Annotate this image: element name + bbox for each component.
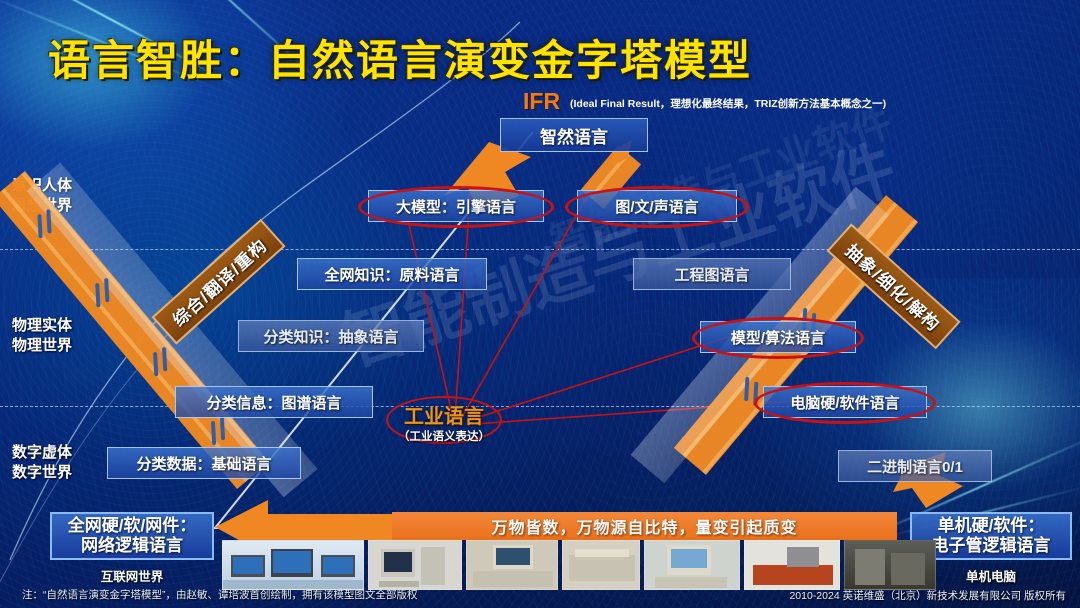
- node-apex-intelligent-language[interactable]: 智然语言: [500, 118, 648, 152]
- stratum-label-digital: 数字虚体 数字世界: [12, 443, 72, 484]
- stratum-line-1: 意识人体: [12, 176, 72, 196]
- node-industrial-language[interactable]: 工业语言 （工业语义表达）: [388, 400, 500, 444]
- thumbnail-vintage-pc: [466, 540, 558, 590]
- ifr-note: (Ideal Final Result，理想化最终结果，TRIZ创新方法基本概念…: [570, 96, 886, 111]
- bottom-right-line-1: 单机硬/软件：: [938, 516, 1045, 536]
- node-right-engineering-drawing[interactable]: 工程图语言: [633, 258, 791, 290]
- node-left-classified-knowledge[interactable]: 分类知识：抽象语言: [238, 320, 424, 352]
- node-bottom-left-network[interactable]: 全网硬/软/网件： 网络逻辑语言: [50, 512, 214, 560]
- stratum-line-1: 物理实体: [12, 316, 72, 336]
- slide-canvas: 语言智胜：自然语言演变金字塔模型 IFR (Ideal Final Result…: [0, 0, 1080, 608]
- node-left-classified-info[interactable]: 分类信息：图谱语言: [175, 386, 373, 418]
- node-right-model-algorithm[interactable]: 模型/算法语言: [700, 321, 856, 353]
- stratum-label-consciousness: 意识人体 思想世界: [12, 176, 72, 217]
- ifr-abbreviation: IFR: [523, 88, 560, 115]
- stratum-line-2: 思想世界: [12, 196, 72, 216]
- bottom-right-line-2: 电子管逻辑语言: [932, 536, 1051, 556]
- page-title: 语言智胜：自然语言演变金字塔模型: [48, 27, 752, 88]
- stratum-line-1: 数字虚体: [12, 443, 72, 463]
- node-right-computer-hard-soft[interactable]: 电脑硬/软件语言: [763, 386, 927, 418]
- node-right-image-text-sound[interactable]: 图/文/声语言: [577, 190, 737, 222]
- stratum-divider-upper: [0, 249, 1080, 250]
- thumbnail-red-portable: [744, 540, 840, 590]
- computer-history-thumbnails: [222, 540, 936, 590]
- copyright-notice: 2010-2024 英诺维盛（北京）新技术发展有限公司 版权所有: [789, 588, 1066, 603]
- thumbnail-laptops: [222, 540, 364, 590]
- industrial-language-subtitle: （工业语义表达）: [388, 428, 500, 444]
- industrial-language-title: 工业语言: [388, 400, 500, 429]
- bottom-banner: 万物皆数，万物源自比特，量变引起质变: [392, 512, 897, 540]
- bottom-left-line-2: 网络逻辑语言: [81, 536, 183, 556]
- node-left-classified-data[interactable]: 分类数据：基础语言: [107, 447, 301, 479]
- thumbnail-vacuum-tube-computer: [844, 540, 936, 590]
- node-left-web-knowledge[interactable]: 全网知识：原料语言: [297, 258, 487, 290]
- thumbnail-crt-desktop: [368, 540, 462, 590]
- bottom-left-line-1: 全网硬/软/网件：: [68, 516, 196, 536]
- footnote-attribution: 注：“自然语言演变金字塔模型”，由赵敏、谭培波首创绘制，拥有该模型图文全部版权: [22, 587, 418, 602]
- stratum-line-2: 物理世界: [12, 336, 72, 356]
- node-right-binary-language[interactable]: 二进制语言0/1: [838, 450, 992, 482]
- stratum-label-physical: 物理实体 物理世界: [12, 316, 72, 357]
- thumbnail-macintosh: [644, 540, 740, 590]
- stratum-line-2: 数字世界: [12, 463, 72, 483]
- thumbnail-printer: [562, 540, 640, 590]
- node-left-large-model[interactable]: 大模型：引擎语言: [368, 190, 544, 222]
- bottom-left-caption: 互联网世界: [50, 566, 214, 585]
